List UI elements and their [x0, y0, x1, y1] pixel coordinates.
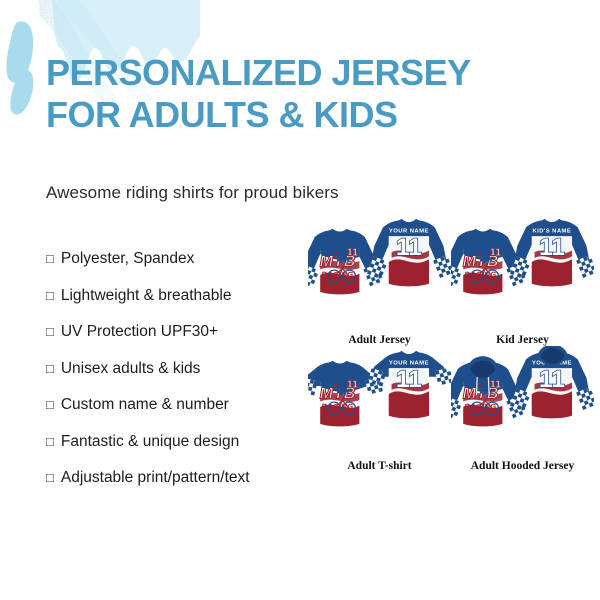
- product-image-kid-jersey: 11MTBRACINGKID'S NAME11: [451, 214, 594, 332]
- product-card-adult-tshirt[interactable]: 11MTBRACINGYOUR NAME11 Adult T-shirt: [308, 346, 451, 472]
- checkbox-square-icon: □: [46, 325, 54, 338]
- svg-text:11: 11: [539, 234, 565, 261]
- feature-item: □Unisex adults & kids: [46, 360, 316, 378]
- checkbox-square-icon: □: [46, 435, 54, 448]
- checkbox-square-icon: □: [46, 398, 54, 411]
- svg-text:11: 11: [396, 366, 422, 393]
- product-image-adult-tshirt: 11MTBRACINGYOUR NAME11: [308, 346, 451, 458]
- checkbox-square-icon: □: [46, 252, 54, 265]
- feature-label: Polyester, Spandex: [61, 250, 195, 268]
- feature-label: Lightweight & breathable: [61, 287, 232, 305]
- product-label: Adult Jersey: [348, 334, 410, 346]
- product-gallery: 11MTBRACINGYOUR NAME11 Adult Jersey 11MT…: [308, 214, 594, 472]
- svg-text:11: 11: [396, 234, 422, 261]
- feature-item: □Custom name & number: [46, 396, 316, 414]
- jersey-illustration: 11MTBRACINGYOUR NAME11: [308, 346, 451, 464]
- feature-item: □Fantastic & unique design: [46, 433, 316, 451]
- feature-label: UV Protection UPF30+: [61, 323, 218, 341]
- product-card-kid-jersey[interactable]: 11MTBRACINGKID'S NAME11 Kid Jersey: [451, 214, 594, 346]
- product-row: 11MTBRACINGYOUR NAME11 Adult T-shirt 11M…: [308, 346, 594, 472]
- splash-strokes: [7, 21, 34, 114]
- checkbox-square-icon: □: [46, 362, 54, 375]
- title-line-1: PERSONALIZED JERSEY: [46, 52, 566, 94]
- checkbox-square-icon: □: [46, 289, 54, 302]
- header: PERSONALIZED JERSEY FOR ADULTS & KIDS: [46, 52, 566, 136]
- feature-label: Fantastic & unique design: [61, 433, 239, 451]
- product-card-adult-hooded-jersey[interactable]: 11MTBRACINGYOUR NAME11 Adult Hooded Jers…: [451, 346, 594, 472]
- jersey-illustration: 11MTBRACINGYOUR NAME11: [308, 214, 451, 332]
- feature-item: □Lightweight & breathable: [46, 287, 316, 305]
- product-image-adult-hooded-jersey: 11MTBRACINGYOUR NAME11: [451, 346, 594, 458]
- jersey-back-view: YOUR NAME11: [368, 351, 451, 419]
- page-subtitle: Awesome riding shirts for proud bikers: [46, 183, 339, 203]
- feature-label: Custom name & number: [61, 396, 229, 414]
- feature-item: □Adjustable print/pattern/text: [46, 469, 316, 487]
- title-line-2: FOR ADULTS & KIDS: [46, 94, 566, 136]
- svg-text:11: 11: [539, 366, 565, 393]
- feature-item: □UV Protection UPF30+: [46, 323, 316, 341]
- feature-label: Adjustable print/pattern/text: [61, 469, 250, 487]
- jersey-illustration: 11MTBRACINGYOUR NAME11: [451, 346, 594, 464]
- feature-label: Unisex adults & kids: [61, 360, 201, 378]
- feature-list: □Polyester, Spandex□Lightweight & breath…: [46, 250, 316, 506]
- product-card-adult-jersey[interactable]: 11MTBRACINGYOUR NAME11 Adult Jersey: [308, 214, 451, 346]
- product-row: 11MTBRACINGYOUR NAME11 Adult Jersey 11MT…: [308, 214, 594, 346]
- page-title: PERSONALIZED JERSEY FOR ADULTS & KIDS: [46, 52, 566, 136]
- product-image-adult-jersey: 11MTBRACINGYOUR NAME11: [308, 214, 451, 332]
- jersey-illustration: 11MTBRACINGKID'S NAME11: [451, 214, 594, 332]
- feature-item: □Polyester, Spandex: [46, 250, 316, 268]
- checkbox-square-icon: □: [46, 471, 54, 484]
- product-label: Kid Jersey: [496, 334, 549, 346]
